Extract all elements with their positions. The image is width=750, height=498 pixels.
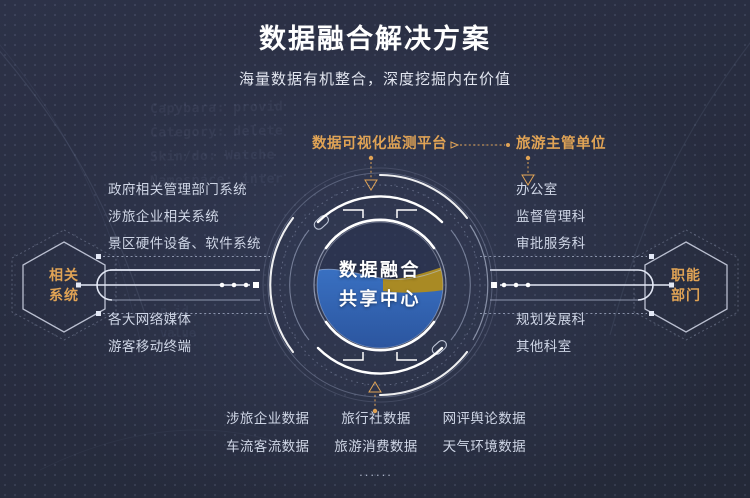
ellipsis-label: ......	[226, 464, 526, 479]
hexagon-label-line2: 部门	[671, 285, 701, 305]
hexagon-related-systems[interactable]: 相关 系统	[6, 226, 122, 344]
hexagon-label-line1: 相关	[49, 265, 79, 285]
center-hub-line2: 共享中心	[339, 285, 421, 314]
hexagon-label-line2: 系统	[49, 285, 79, 305]
center-hub[interactable]: 数据融合 共享中心	[255, 160, 505, 410]
right-bottom-label-column: 规划发展科 其他科室	[516, 306, 586, 360]
hexagon-functional-departments[interactable]: 职能 部门	[628, 226, 744, 344]
list-item: 规划发展科	[516, 306, 586, 333]
page-title: 数据融合解决方案	[0, 22, 750, 56]
top-label-row: 数据可视化监测平台 旅游主管单位	[0, 132, 750, 154]
list-item: 旅游消费数据	[334, 433, 417, 461]
infographic-stage: Capybara: provid Category: delete Skin/d…	[0, 0, 750, 498]
hexagon-label-line1: 职能	[671, 265, 701, 285]
table-row: 车流客流数据 旅游消费数据 天气环境数据	[226, 433, 526, 461]
header: 数据融合解决方案 海量数据有机整合，深度挖掘内在价值	[0, 22, 750, 89]
center-hub-label: 数据融合 共享中心	[255, 160, 505, 410]
bottom-data-grid: 涉旅企业数据 旅行社数据 网评舆论数据 车流客流数据 旅游消费数据 天气环境数据…	[226, 405, 526, 479]
label-tourism-authority: 旅游主管单位	[516, 132, 606, 153]
list-item: 政府相关管理部门系统	[108, 176, 261, 203]
left-top-label-column: 政府相关管理部门系统 涉旅企业相关系统 景区硬件设备、软件系统	[108, 176, 261, 257]
center-hub-line1: 数据融合	[339, 256, 421, 285]
page-subtitle: 海量数据有机整合，深度挖掘内在价值	[0, 68, 750, 89]
right-top-label-column: 办公室 监督管理科 审批服务科	[516, 176, 586, 257]
list-item: 监督管理科	[516, 203, 586, 230]
list-item: 车流客流数据	[226, 433, 309, 461]
dotted-arrow-left-icon	[450, 141, 512, 149]
watermark-line: Capybara: provid	[150, 94, 360, 122]
list-item: 天气环境数据	[443, 433, 526, 461]
hexagon-label: 相关 系统	[6, 226, 122, 344]
hexagon-label: 职能 部门	[628, 226, 744, 344]
label-visualization-platform: 数据可视化监测平台	[312, 132, 447, 153]
list-item: 办公室	[516, 176, 586, 203]
list-item: 其他科室	[516, 333, 586, 360]
list-item: 景区硬件设备、软件系统	[108, 230, 261, 257]
list-item: 涉旅企业相关系统	[108, 203, 261, 230]
list-item: 审批服务科	[516, 230, 586, 257]
